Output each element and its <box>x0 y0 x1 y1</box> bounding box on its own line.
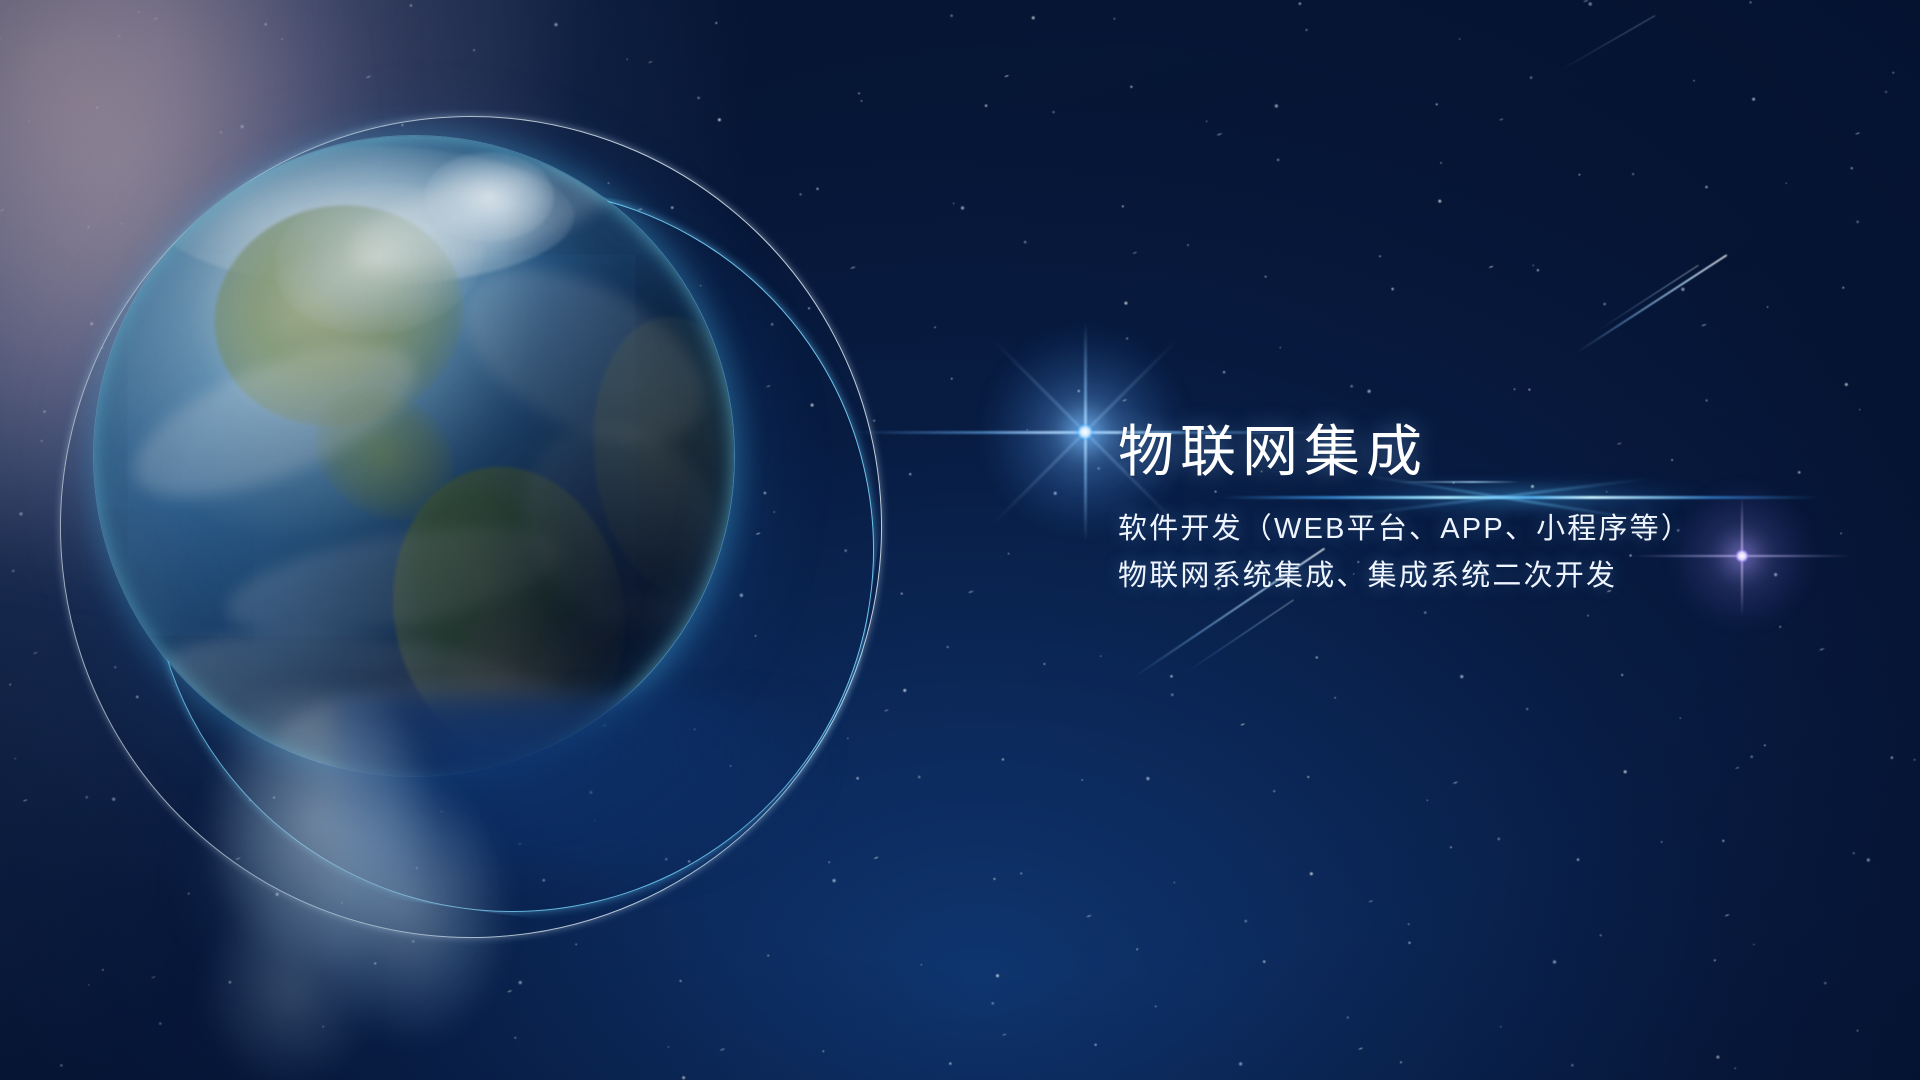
page-title: 物联网集成 <box>1118 422 1838 482</box>
subtitle-line-2: 物联网系统集成、集成系统二次开发 <box>1118 553 1838 600</box>
globe-sphere <box>94 136 734 776</box>
earth-globe <box>94 136 754 796</box>
hero-subtitle: 软件开发（WEB平台、APP、小程序等） 物联网系统集成、集成系统二次开发 <box>1118 506 1838 600</box>
orbit-ring-fade <box>334 696 1034 1016</box>
hero-banner: 物联网集成 软件开发（WEB平台、APP、小程序等） 物联网系统集成、集成系统二… <box>0 0 1920 1080</box>
subtitle-line-1: 软件开发（WEB平台、APP、小程序等） <box>1118 506 1838 553</box>
globe-rim-light <box>94 136 734 776</box>
hero-copy: 物联网集成 软件开发（WEB平台、APP、小程序等） 物联网系统集成、集成系统二… <box>1118 422 1838 600</box>
